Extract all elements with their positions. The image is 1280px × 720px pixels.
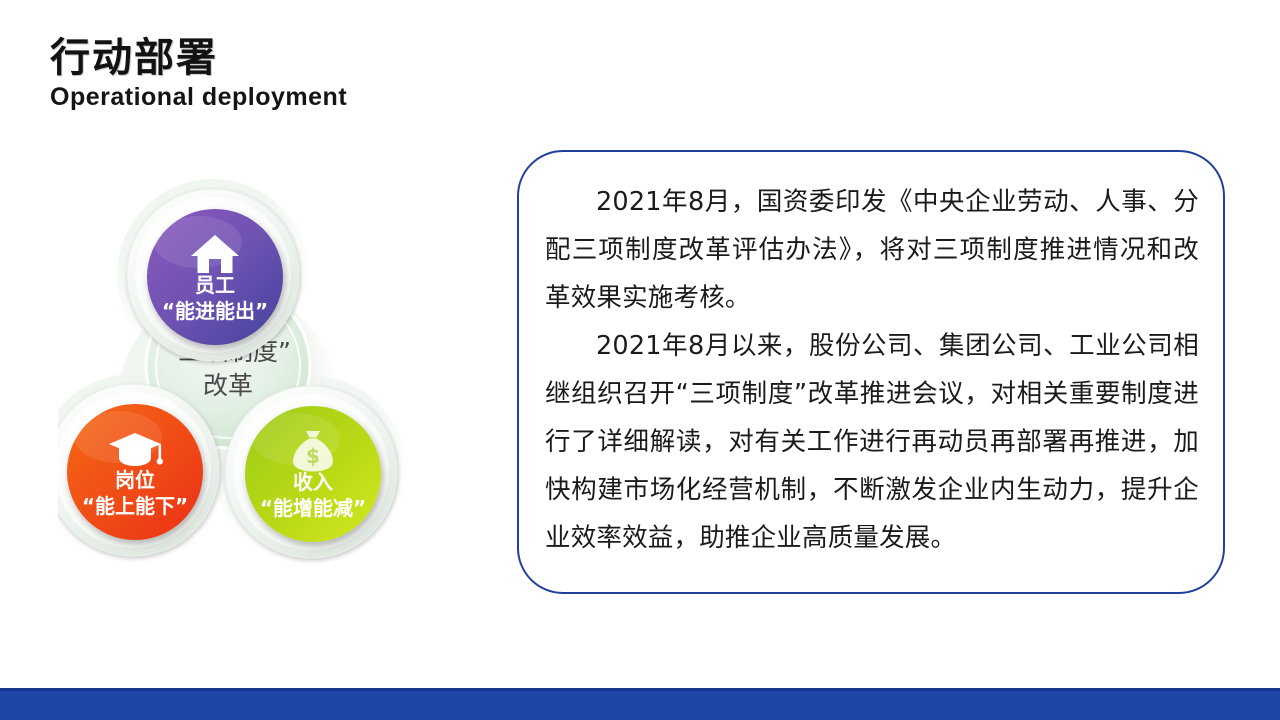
node-subtitle-position: “能上能下” xyxy=(82,494,188,518)
page-subtitle: Operational deployment xyxy=(50,83,650,112)
bottom-accent-bar xyxy=(0,688,1280,720)
paragraph-2: 2021年8月以来，股份公司、集团公司、工业公司相继组织召开“三项制度”改革推进… xyxy=(521,322,1221,562)
page-title: 行动部署 xyxy=(50,36,650,81)
node-title-position: 岗位 xyxy=(115,468,155,492)
paragraph-1: 2021年8月，国资委印发《中央企业劳动、人事、分配三项制度改革评估办法》，将对… xyxy=(521,178,1221,322)
diagram-node-employee[interactable]: 员工 “能进能出” xyxy=(127,189,299,361)
text-panel-body: 2021年8月，国资委印发《中央企业劳动、人事、分配三项制度改革评估办法》，将对… xyxy=(521,178,1221,562)
node-title-income: 收入 xyxy=(293,470,333,494)
slide-header: 行动部署 Operational deployment xyxy=(50,36,650,112)
diagram-node-income[interactable]: $ 收入 “能增能减” xyxy=(225,386,397,558)
node-subtitle-employee: “能进能出” xyxy=(162,299,268,323)
bottom-accent-bar-highlight xyxy=(0,688,1280,691)
diagram-node-position[interactable]: 岗位 “能上能下” xyxy=(58,384,219,556)
svg-text:$: $ xyxy=(306,444,320,468)
slide-canvas: 行动部署 Operational deployment xyxy=(0,0,1280,720)
center-label-line2: 改革 xyxy=(203,371,253,400)
node-title-employee: 员工 xyxy=(195,273,235,297)
node-subtitle-income: “能增能减” xyxy=(260,496,366,520)
three-systems-diagram: “三项制度” 改革 员工 “能进能出” xyxy=(58,170,518,570)
